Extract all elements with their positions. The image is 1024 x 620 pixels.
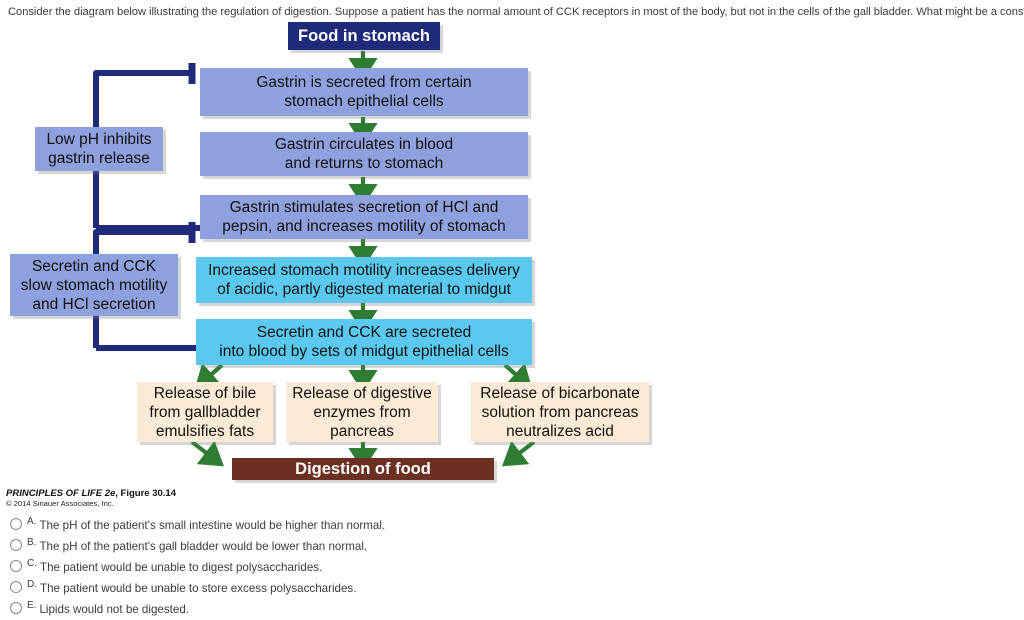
node-release-bicarbonate: Release of bicarbonate solution from pan… — [471, 382, 649, 442]
node-release-enzymes-line1: Release of digestive — [292, 384, 432, 403]
node-secretin-cck-secreted-line1: Secretin and CCK are secreted — [257, 323, 472, 342]
node-low-ph-inhibits-line1: Low pH inhibits — [46, 130, 151, 149]
node-secretin-cck-secreted-line2: into blood by sets of midgut epithelial … — [219, 342, 509, 361]
figure-credit-title: PRINCIPLES OF LIFE 2e, Figure 30.14 — [6, 488, 176, 499]
node-increased-motility-line2: of acidic, partly digested material to m… — [217, 280, 511, 299]
answer-text-a: The pH of the patient's small intestine … — [39, 519, 385, 532]
green-converge-arrows — [192, 442, 534, 458]
node-release-bicarbonate-line3: neutralizes acid — [506, 422, 614, 441]
answer-choice-d[interactable]: D. The patient would be unable to store … — [10, 575, 710, 596]
answer-text-c: The patient would be unable to digest po… — [40, 561, 322, 574]
node-digestion-of-food-label: Digestion of food — [295, 460, 431, 479]
node-release-bicarbonate-line1: Release of bicarbonate — [480, 384, 639, 403]
node-release-bicarbonate-line2: solution from pancreas — [482, 403, 639, 422]
node-gastrin-circulates-line2: and returns to stomach — [285, 154, 444, 173]
node-increased-motility: Increased stomach motility increases del… — [196, 257, 532, 303]
node-release-bile-line3: emulsifies fats — [156, 422, 254, 441]
node-gastrin-secreted: Gastrin is secreted from certain stomach… — [200, 68, 528, 116]
node-secretin-cck-slow-line2: slow stomach motility — [21, 276, 167, 295]
node-gastrin-circulates-line1: Gastrin circulates in blood — [275, 135, 453, 154]
answer-text-d: The patient would be unable to store exc… — [40, 582, 356, 595]
answer-text-b: The pH of the patient's gall bladder wou… — [39, 540, 367, 553]
figure-credit-number: , Figure 30.14 — [115, 488, 176, 499]
node-release-enzymes-line2: enzymes from — [313, 403, 410, 422]
node-release-bile-line1: Release of bile — [154, 384, 257, 403]
radio-button-e[interactable] — [10, 602, 22, 614]
node-gastrin-stimulates-line1: Gastrin stimulates secretion of HCl and — [230, 198, 499, 217]
radio-button-b[interactable] — [10, 539, 22, 551]
answer-choice-a[interactable]: A. The pH of the patient's small intesti… — [10, 512, 710, 533]
node-gastrin-stimulates-line2: pepsin, and increases motility of stomac… — [222, 217, 505, 236]
answer-letter-a: A. — [27, 516, 36, 527]
digestion-regulation-diagram: Food in stomach Gastrin is secreted from… — [0, 22, 700, 487]
radio-button-d[interactable] — [10, 581, 22, 593]
figure-credit-book: PRINCIPLES OF LIFE 2e — [6, 488, 115, 499]
answer-letter-d: D. — [27, 579, 37, 590]
node-secretin-cck-slow: Secretin and CCK slow stomach motility a… — [10, 254, 178, 316]
figure-credit-copyright: © 2014 Sinauer Associates, Inc. — [6, 499, 114, 508]
radio-button-c[interactable] — [10, 560, 22, 572]
node-release-bile: Release of bile from gallbladder emulsif… — [137, 382, 273, 442]
question-stem: Consider the diagram below illustrating … — [8, 5, 1018, 19]
answer-text-e: Lipids would not be digested. — [39, 603, 189, 616]
node-gastrin-secreted-line2: stomach epithelial cells — [284, 92, 443, 111]
node-secretin-cck-secreted: Secretin and CCK are secreted into blood… — [196, 319, 532, 365]
answer-letter-e: E. — [27, 600, 36, 611]
node-release-enzymes: Release of digestive enzymes from pancre… — [286, 382, 438, 442]
answer-choice-b[interactable]: B. The pH of the patient's gall bladder … — [10, 533, 710, 554]
node-digestion-of-food: Digestion of food — [232, 458, 494, 480]
node-release-enzymes-line3: pancreas — [330, 422, 394, 441]
node-secretin-cck-slow-line1: Secretin and CCK — [32, 257, 156, 276]
radio-button-a[interactable] — [10, 518, 22, 530]
node-food-in-stomach-label: Food in stomach — [298, 27, 430, 46]
node-low-ph-inhibits: Low pH inhibits gastrin release — [35, 127, 163, 171]
answer-choice-e[interactable]: E. Lipids would not be digested. — [10, 596, 710, 617]
answer-letter-c: C. — [27, 558, 37, 569]
node-low-ph-inhibits-line2: gastrin release — [48, 149, 150, 168]
node-secretin-cck-slow-line3: and HCl secretion — [32, 295, 155, 314]
answer-choice-list: A. The pH of the patient's small intesti… — [10, 512, 710, 617]
green-branch-arrows — [205, 365, 522, 380]
node-gastrin-circulates: Gastrin circulates in blood and returns … — [200, 132, 528, 176]
node-increased-motility-line1: Increased stomach motility increases del… — [208, 261, 520, 280]
answer-letter-b: B. — [27, 537, 36, 548]
answer-choice-c[interactable]: C. The patient would be unable to digest… — [10, 554, 710, 575]
node-release-bile-line2: from gallbladder — [149, 403, 260, 422]
node-gastrin-stimulates: Gastrin stimulates secretion of HCl and … — [200, 195, 528, 239]
node-gastrin-secreted-line1: Gastrin is secreted from certain — [256, 73, 471, 92]
node-food-in-stomach: Food in stomach — [288, 22, 440, 50]
